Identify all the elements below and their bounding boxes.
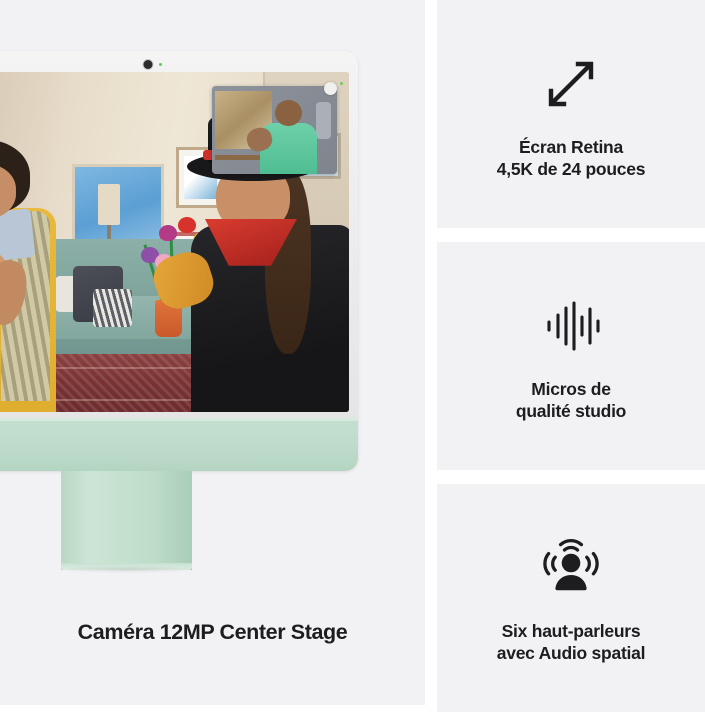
feature-comparison-page: Caméra 12MP Center Stage Écran Retina 4,… [0,0,705,705]
camera-feature-caption: Caméra 12MP Center Stage [0,620,425,645]
imac-stand [61,471,192,570]
imac-device-image [0,51,358,471]
floor-lamp-shade [98,184,120,225]
card-divider [437,228,705,242]
camera-indicator-light-icon [159,63,162,66]
camera-feature-panel: Caméra 12MP Center Stage [0,0,425,705]
feature-card-label: Écran Retina 4,5K de 24 pouces [497,136,645,180]
imac-body [0,51,358,471]
imac-stand-shadow [55,566,199,573]
feature-cards-column: Écran Retina 4,5K de 24 pouces [437,0,705,705]
audio-waveform-icon [535,290,607,362]
feature-card-retina-display[interactable]: Écran Retina 4,5K de 24 pouces [437,0,705,228]
imac-chin [0,418,358,471]
imac-screen [0,72,349,412]
spatial-audio-person-icon [535,532,607,604]
feature-card-label: Micros de qualité studio [516,378,626,422]
feature-card-studio-mics[interactable]: Micros de qualité studio [437,242,705,470]
expand-diagonal-icon [535,48,607,120]
person-woman [0,140,68,412]
column-divider [425,0,437,705]
feature-card-label: Six haut-parleurs avec Audio spatial [497,620,646,664]
facetime-pip-tile[interactable] [212,86,337,174]
facetime-scene [0,72,349,412]
feature-card-spatial-audio[interactable]: Six haut-parleurs avec Audio spatial [437,484,705,712]
card-divider [437,470,705,484]
camera-icon [144,60,153,69]
